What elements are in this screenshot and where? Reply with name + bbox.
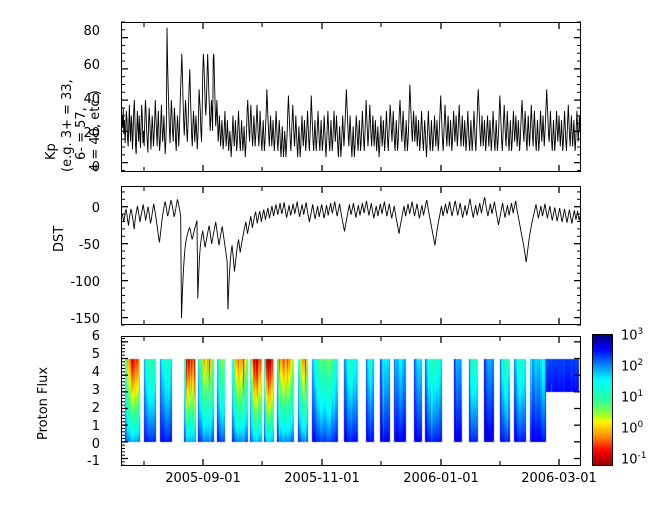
- dst-ytick-minus50: -50: [62, 238, 100, 253]
- colorbar-tick-exponent-1e2: 2: [638, 358, 644, 368]
- colorbar-tick-mantissa-1e2: 10: [621, 359, 638, 374]
- colorbar-tick-exponent-1e-1: -1: [638, 451, 647, 461]
- xtick-label-0: 2005-09-01: [143, 471, 263, 486]
- kp-series-plot: [122, 23, 580, 171]
- dst-series-plot: [122, 187, 580, 324]
- dst-ytick-minus150: -150: [56, 312, 100, 327]
- flux-axis-label: Proton Flux: [36, 367, 51, 440]
- flux-ytick-4: 4: [68, 365, 100, 380]
- dst-data-line: [122, 197, 580, 318]
- xtick-label-2: 2006-01-01: [381, 471, 501, 486]
- dst-ytick-0: 0: [72, 201, 100, 216]
- colorbar-tick-1e1: 101: [621, 389, 643, 405]
- kp-ytick-20: 20: [76, 126, 100, 141]
- kp-ytick-60: 60: [76, 58, 100, 73]
- flux-plot-panel: [121, 336, 581, 466]
- figure-canvas: Kp (e.g. 3+ = 33, 6- = 57, 4 = 40, etc.)…: [0, 0, 665, 523]
- flux-ytick-minus1: -1: [68, 454, 100, 469]
- colorbar-tick-exponent-1e0: 0: [638, 420, 644, 430]
- kp-ytick-0: 0: [76, 160, 100, 175]
- xtick-label-3: 2006-03-01: [499, 471, 619, 486]
- kp-axis-label-line2: (e.g. 3+ = 33,: [60, 79, 75, 172]
- colorbar-tick-mantissa-1e-1: 10: [621, 452, 638, 467]
- colorbar-tick-1e0: 100: [621, 420, 643, 436]
- kp-ytick-80: 80: [76, 24, 100, 39]
- colorbar-tick-mantissa-1e3: 10: [621, 328, 638, 343]
- kp-data-line: [122, 28, 580, 158]
- colorbar-tick-exponent-1e3: 3: [638, 327, 644, 337]
- flux-ytick-0: 0: [68, 437, 100, 452]
- flux-ytick-1: 1: [68, 419, 100, 434]
- flux-ytick-2: 2: [68, 401, 100, 416]
- flux-heatmap: [122, 337, 580, 465]
- colorbar-tick-exponent-1e1: 1: [638, 389, 644, 399]
- colorbar-tick-1e-1: 10-1: [621, 451, 647, 467]
- flux-ytick-6: 6: [68, 329, 100, 344]
- dst-plot-panel: [121, 186, 581, 325]
- kp-axis-label-line1: Kp: [44, 143, 59, 160]
- xtick-label-1: 2005-11-01: [262, 471, 382, 486]
- flux-ytick-3: 3: [68, 383, 100, 398]
- colorbar-tick-1e3: 103: [621, 327, 643, 343]
- dst-ytick-minus100: -100: [56, 275, 100, 290]
- colorbar-tick-mantissa-1e1: 10: [621, 390, 638, 405]
- kp-plot-panel: [121, 22, 581, 172]
- colorbar-tick-mantissa-1e0: 10: [621, 421, 638, 436]
- flux-ytick-5: 5: [68, 347, 100, 362]
- colorbar-tick-1e2: 102: [621, 358, 643, 374]
- colorbar: [592, 334, 613, 466]
- kp-ytick-40: 40: [76, 92, 100, 107]
